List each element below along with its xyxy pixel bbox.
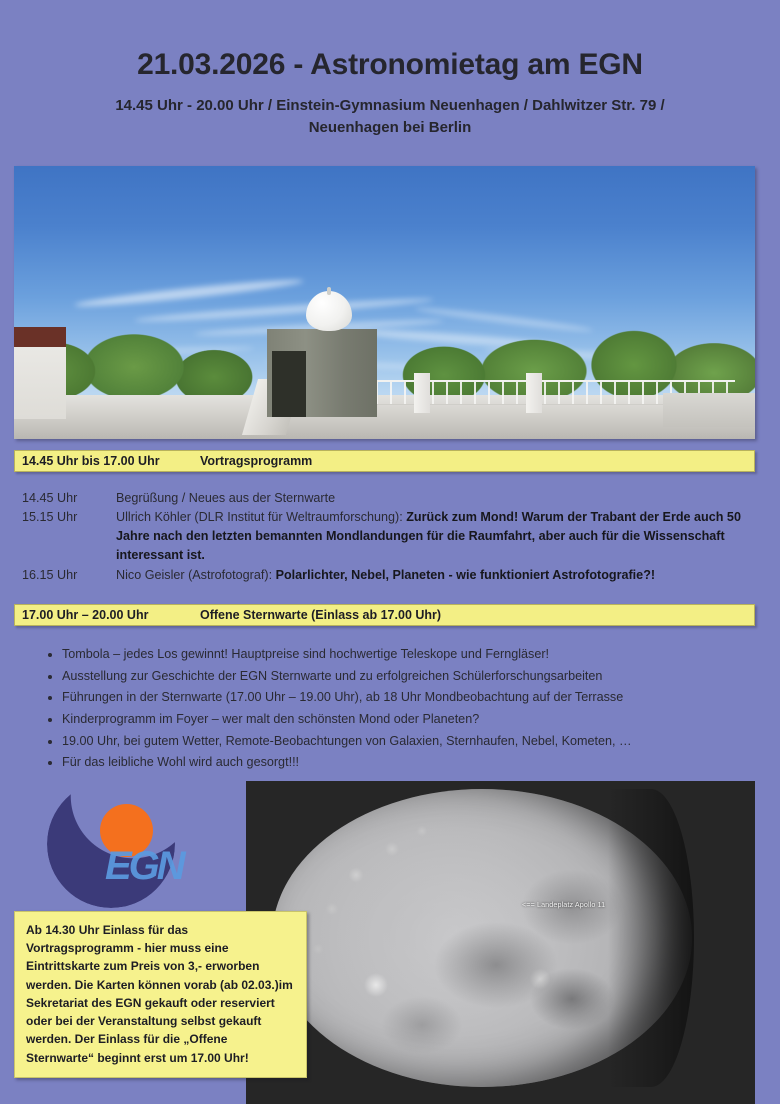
banner-talks-label: Vortragsprogramm [200, 454, 312, 468]
list-item: Für das leibliche Wohl wird auch gesorgt… [62, 752, 780, 774]
talk-program-list: 14.45 Uhr Begrüßung / Neues aus der Ster… [22, 489, 752, 585]
open-observatory-bullet-list: Tombola – jedes Los gewinnt! Hauptpreise… [36, 644, 780, 774]
section-banner-talks: 14.45 Uhr bis 17.00 Uhr Vortragsprogramm [14, 450, 755, 472]
observatory-dome [306, 291, 352, 331]
list-item: Ausstellung zur Geschichte der EGN Stern… [62, 666, 780, 688]
section-banner-open-observatory: 17.00 Uhr – 20.00 Uhr Offene Sternwarte … [14, 604, 755, 626]
talk-time: 15.15 Uhr [22, 508, 116, 527]
egn-observatory-logo: EGN [47, 780, 179, 908]
list-item: 19.00 Uhr, bei gutem Wetter, Remote-Beob… [62, 731, 780, 753]
sky-background [14, 166, 755, 439]
talk-text-plain: Nico Geisler (Astrofotograf): [116, 568, 276, 582]
moon-terminator [608, 789, 694, 1087]
banner-open-label: Offene Sternwarte (Einlass ab 17.00 Uhr) [200, 608, 441, 622]
observatory-panorama-photo [14, 166, 755, 439]
talk-time: 14.45 Uhr [22, 489, 116, 508]
banner-talks-time: 14.45 Uhr bis 17.00 Uhr [15, 454, 200, 468]
moon-disc [272, 789, 692, 1087]
talk-text: Nico Geisler (Astrofotograf): Polarlicht… [116, 566, 752, 585]
terrace-pillar [526, 373, 542, 413]
side-building [14, 327, 66, 419]
talk-time: 16.15 Uhr [22, 566, 116, 585]
list-item: Führungen in der Sternwarte (17.00 Uhr –… [62, 687, 780, 709]
apollo-landing-site-annotation: <== Landeplatz Apollo 11 [522, 900, 605, 909]
admission-note-box: Ab 14.30 Uhr Einlass für das Vortragspro… [14, 911, 307, 1078]
far-building [663, 393, 755, 427]
talk-row: 14.45 Uhr Begrüßung / Neues aus der Ster… [22, 489, 752, 508]
terrace-pillar [414, 373, 430, 413]
poster-header: 21.03.2026 - Astronomietag am EGN 14.45 … [0, 0, 780, 140]
talk-row: 16.15 Uhr Nico Geisler (Astrofotograf): … [22, 566, 752, 585]
banner-open-time: 17.00 Uhr – 20.00 Uhr [15, 608, 200, 622]
page-title: 21.03.2026 - Astronomietag am EGN [0, 48, 780, 83]
observatory-door [272, 351, 306, 417]
talk-text-bold: Polarlichter, Nebel, Planeten - wie funk… [276, 568, 656, 582]
talk-text: Ullrich Köhler (DLR Institut für Weltrau… [116, 508, 752, 565]
page-subtitle: 14.45 Uhr - 20.00 Uhr / Einstein-Gymnasi… [70, 95, 710, 140]
list-item: Kinderprogramm im Foyer – wer malt den s… [62, 709, 780, 731]
list-item: Tombola – jedes Los gewinnt! Hauptpreise… [62, 644, 780, 666]
cloud-icon [74, 276, 304, 310]
talk-text-plain: Begrüßung / Neues aus der Sternwarte [116, 491, 335, 505]
moon-photograph: <== Landeplatz Apollo 11 [246, 781, 755, 1104]
talk-text-plain: Ullrich Köhler (DLR Institut für Weltrau… [116, 510, 406, 524]
poster: 21.03.2026 - Astronomietag am EGN 14.45 … [0, 0, 780, 1104]
talk-row: 15.15 Uhr Ullrich Köhler (DLR Institut f… [22, 508, 752, 565]
logo-letters: EGN [105, 846, 183, 886]
talk-text: Begrüßung / Neues aus der Sternwarte [116, 489, 752, 508]
